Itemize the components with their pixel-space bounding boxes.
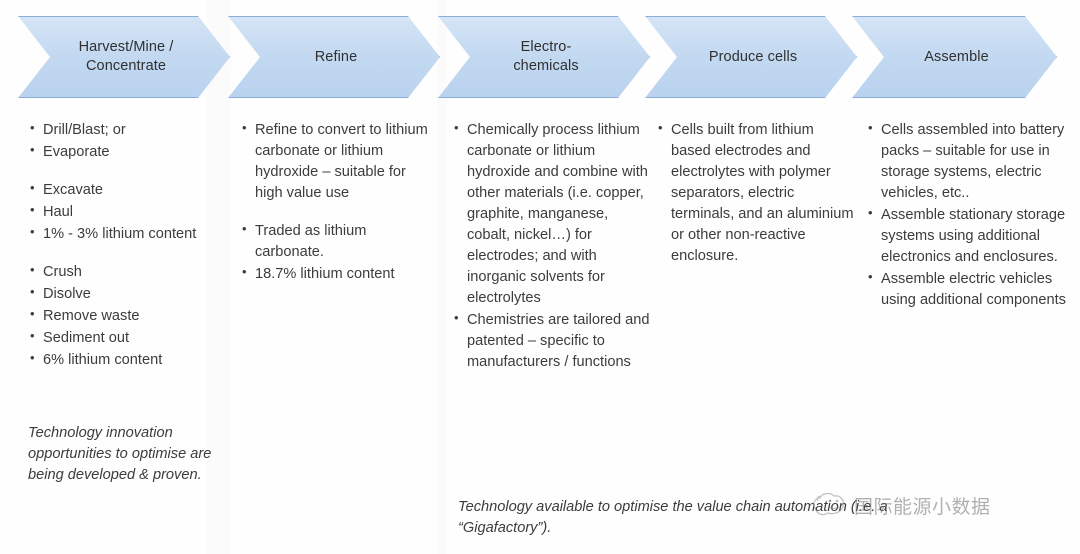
bullet-group: Refine to convert to lithium carbonate o… (240, 120, 436, 204)
list-item: Evaporate (28, 142, 220, 163)
list-item: 18.7% lithium content (240, 264, 436, 285)
stage-chevron-refine[interactable]: Refine (228, 16, 440, 98)
list-item: Haul (28, 202, 220, 223)
group-separator (28, 164, 220, 180)
diagram-canvas: Harvest/Mine / Concentrate Refine Electr… (0, 0, 1080, 554)
list-item: 6% lithium content (28, 350, 220, 371)
technology-innovation-note: Technology innovation opportunities to o… (28, 423, 224, 486)
list-item: Drill/Blast; or (28, 120, 220, 141)
bullet-group: Excavate Haul 1% - 3% lithium content (28, 180, 220, 245)
stage-label: Electro- chemicals (513, 38, 578, 76)
list-item: Crush (28, 262, 220, 283)
column-harvest-mine-concentrate: Drill/Blast; or Evaporate Excavate Haul … (28, 120, 220, 372)
bullet-group: Cells built from lithium based electrode… (656, 120, 856, 267)
bullet-group: Traded as lithium carbonate. 18.7% lithi… (240, 221, 436, 285)
stage-label: Refine (315, 48, 358, 67)
stage-chevron-harvest-mine-concentrate[interactable]: Harvest/Mine / Concentrate (18, 16, 230, 98)
list-item: Cells built from lithium based electrode… (656, 120, 856, 267)
list-item: Remove waste (28, 306, 220, 327)
list-item: Assemble electric vehicles using additio… (866, 269, 1066, 311)
list-item: Refine to convert to lithium carbonate o… (240, 120, 436, 204)
group-separator (240, 205, 436, 221)
list-item: 1% - 3% lithium content (28, 224, 220, 245)
stage-chevron-assemble[interactable]: Assemble (852, 16, 1057, 98)
bullet-group: Drill/Blast; or Evaporate (28, 120, 220, 163)
list-item: Sediment out (28, 328, 220, 349)
list-item: Chemically process lithium carbonate or … (452, 120, 650, 309)
list-item: Excavate (28, 180, 220, 201)
column-electro-chemicals: Chemically process lithium carbonate or … (452, 120, 650, 374)
bullet-group: Crush Disolve Remove waste Sediment out … (28, 262, 220, 371)
stage-chevron-electro-chemicals[interactable]: Electro- chemicals (438, 16, 650, 98)
list-item: Disolve (28, 284, 220, 305)
list-item: Assemble stationary storage systems usin… (866, 205, 1066, 268)
column-refine: Refine to convert to lithium carbonate o… (240, 120, 436, 286)
bullet-group: Chemically process lithium carbonate or … (452, 120, 650, 373)
list-item: Chemistries are tailored and patented – … (452, 310, 650, 373)
stage-label: Assemble (924, 48, 988, 67)
column-assemble: Cells assembled into battery packs – sui… (866, 120, 1066, 312)
stage-chevron-row: Harvest/Mine / Concentrate Refine Electr… (0, 16, 1080, 100)
group-separator (28, 246, 220, 262)
stage-chevron-produce-cells[interactable]: Produce cells (645, 16, 857, 98)
list-item: Traded as lithium carbonate. (240, 221, 436, 263)
column-produce-cells: Cells built from lithium based electrode… (656, 120, 856, 268)
list-item: Cells assembled into battery packs – sui… (866, 120, 1066, 204)
footer-note: Technology available to optimise the val… (458, 497, 888, 539)
stage-label: Harvest/Mine / Concentrate (79, 38, 174, 76)
stage-label: Produce cells (709, 48, 797, 67)
bullet-group: Cells assembled into battery packs – sui… (866, 120, 1066, 311)
